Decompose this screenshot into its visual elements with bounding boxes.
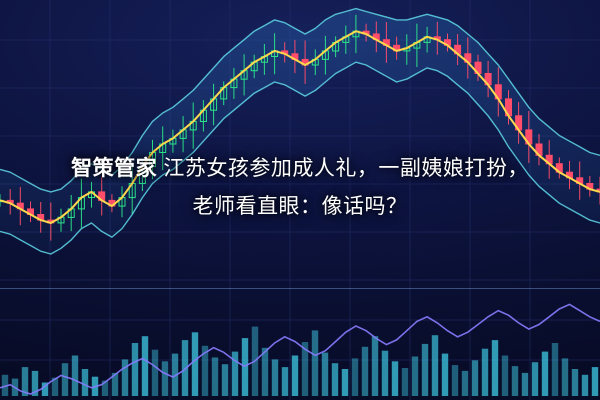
chart-screenshot: 智策管家 江苏女孩参加成人礼，一副姨娘打扮， 老师看直眼：像话吗？ [0, 0, 600, 400]
bollinger-band [0, 9, 600, 254]
indicator-panel [0, 288, 600, 400]
price-panel [0, 0, 600, 288]
volume-bars [2, 327, 598, 396]
macd-line [0, 304, 600, 394]
